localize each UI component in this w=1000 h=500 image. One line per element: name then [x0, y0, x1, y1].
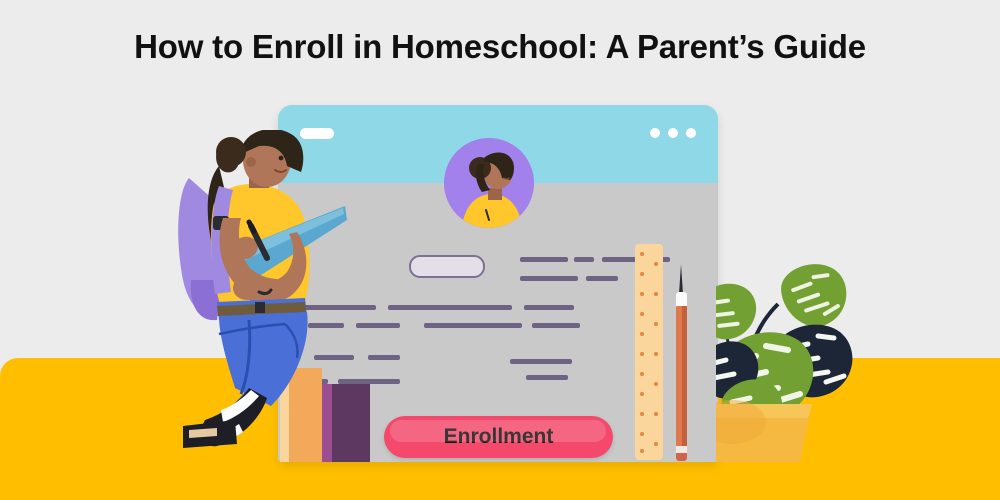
text-line: [356, 323, 400, 328]
text-line: [526, 375, 568, 380]
student-svg: [175, 130, 355, 460]
form-input-box[interactable]: [409, 255, 485, 278]
user-avatar: [444, 138, 534, 228]
text-line: [368, 355, 400, 360]
text-line: [574, 257, 594, 262]
window-dot-1[interactable]: [650, 128, 660, 138]
window-controls: [650, 128, 696, 138]
text-line: [520, 276, 578, 281]
enrollment-button[interactable]: Enrollment: [384, 416, 613, 458]
window-dot-2[interactable]: [668, 128, 678, 138]
plant-svg: [716, 246, 886, 462]
pencil-tip: [679, 264, 683, 294]
window-dot-3[interactable]: [686, 128, 696, 138]
pencil-collar: [676, 292, 687, 307]
pencil-body-shade: [682, 306, 687, 446]
page-title: How to Enroll in Homeschool: A Parent’s …: [0, 28, 1000, 66]
text-line: [586, 276, 618, 281]
ruler: [635, 244, 663, 460]
pencil-eraser: [676, 453, 687, 461]
text-line: [524, 305, 574, 310]
avatar-figure: [444, 138, 534, 228]
student-character: [175, 130, 355, 460]
pencil: [676, 264, 687, 461]
text-line: [520, 257, 568, 262]
text-line: [510, 359, 572, 364]
text-line: [388, 305, 512, 310]
text-line: [424, 323, 522, 328]
poster-canvas: How to Enroll in Homeschool: A Parent’s …: [0, 0, 1000, 500]
pencil-ferrule: [676, 446, 687, 453]
monstera-plant: [716, 246, 886, 462]
text-line: [532, 323, 580, 328]
